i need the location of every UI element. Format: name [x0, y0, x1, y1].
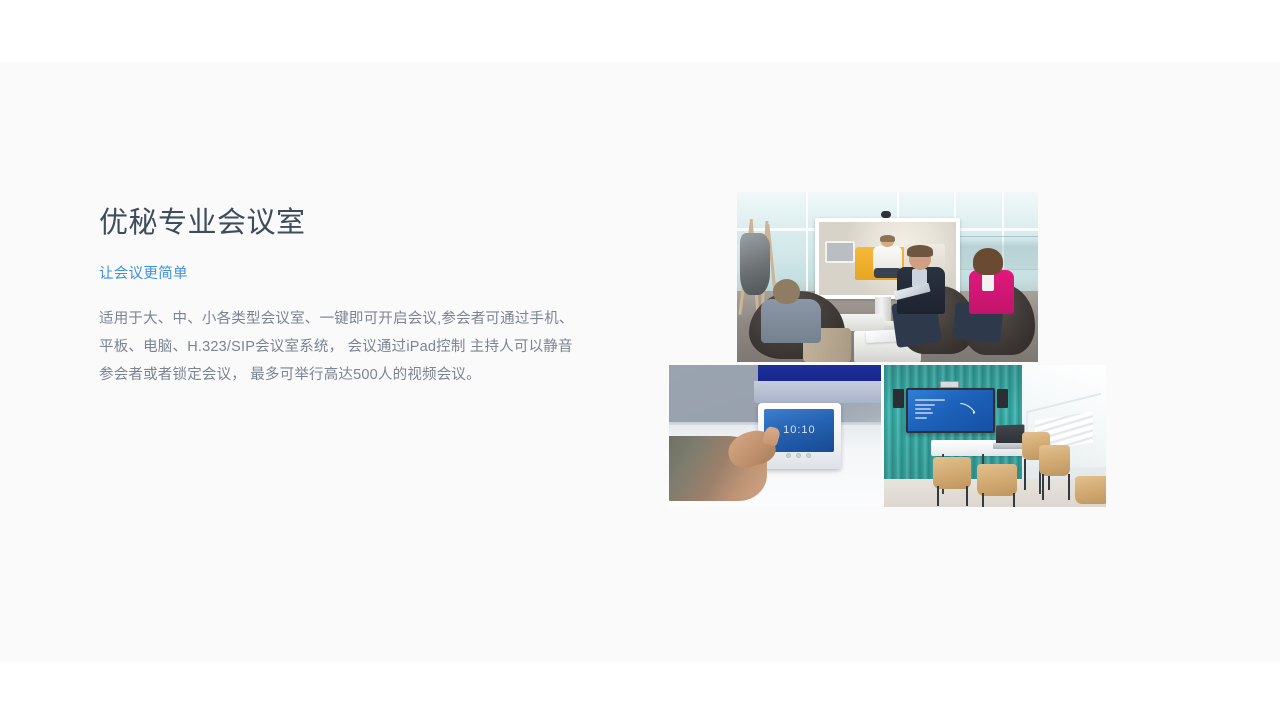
slide-page: 优秘专业会议室 让会议更简单 适用于大、中、小各类型会议室、一键即可开启会议,参… — [0, 0, 1280, 720]
participant-head — [773, 279, 800, 305]
hanging-coat — [740, 233, 770, 295]
chair-leg — [1024, 459, 1026, 490]
page-title: 优秘专业会议室 — [99, 203, 599, 243]
touch-panel-button — [786, 453, 791, 458]
wall-speaker — [997, 389, 1008, 407]
participant-hair — [907, 245, 933, 257]
chair-leg — [982, 493, 984, 507]
wall-mounted-display — [906, 388, 995, 433]
chair-leg — [1013, 493, 1015, 507]
background-monitor-body — [754, 381, 881, 404]
chair-leg — [966, 486, 968, 506]
feature-text-column: 优秘专业会议室 让会议更简单 适用于大、中、小各类型会议室、一键即可开启会议,参… — [99, 203, 599, 389]
wooden-chair — [1075, 476, 1106, 504]
photo-touch-panel-tablet: 10:10 — [669, 365, 881, 507]
remote-room-monitor — [825, 241, 855, 263]
feature-subtitle: 让会议更简单 — [99, 263, 599, 285]
display-text-line — [915, 404, 935, 406]
wall-speaker — [893, 389, 904, 407]
photo-collage: 10:10 — [669, 192, 1106, 507]
conference-camera-icon — [881, 211, 891, 218]
chair-leg — [937, 486, 939, 506]
remote-participant-hair — [880, 235, 894, 242]
chair-leg — [1068, 474, 1070, 500]
wall-camera-icon — [940, 381, 960, 388]
display-text-line — [915, 412, 933, 414]
feature-description: 适用于大、中、小各类型会议室、一键即可开启会议,参会者可通过手机、平板、电脑、H… — [99, 305, 577, 389]
chair-leg — [1042, 474, 1044, 500]
brand-swoosh-icon — [952, 401, 984, 415]
laptop-screen — [996, 424, 1024, 445]
touch-panel-buttons — [786, 453, 820, 460]
touch-panel-button — [806, 453, 811, 458]
photo-telepresence-meeting-room — [737, 192, 1038, 362]
wooden-chair — [977, 464, 1017, 495]
display-text-line — [915, 408, 931, 410]
display-text-line — [915, 417, 927, 419]
participant-torso — [761, 299, 821, 343]
window-mullion — [806, 192, 808, 294]
participant-hair — [973, 248, 1003, 275]
display-text-lines — [915, 397, 954, 420]
background-monitor-screen — [758, 365, 881, 382]
photo-huddle-room-display — [884, 365, 1106, 507]
touch-panel-button — [796, 453, 801, 458]
display-text-line — [915, 399, 945, 401]
wooden-chair — [1039, 445, 1070, 476]
wooden-chair — [933, 457, 971, 488]
